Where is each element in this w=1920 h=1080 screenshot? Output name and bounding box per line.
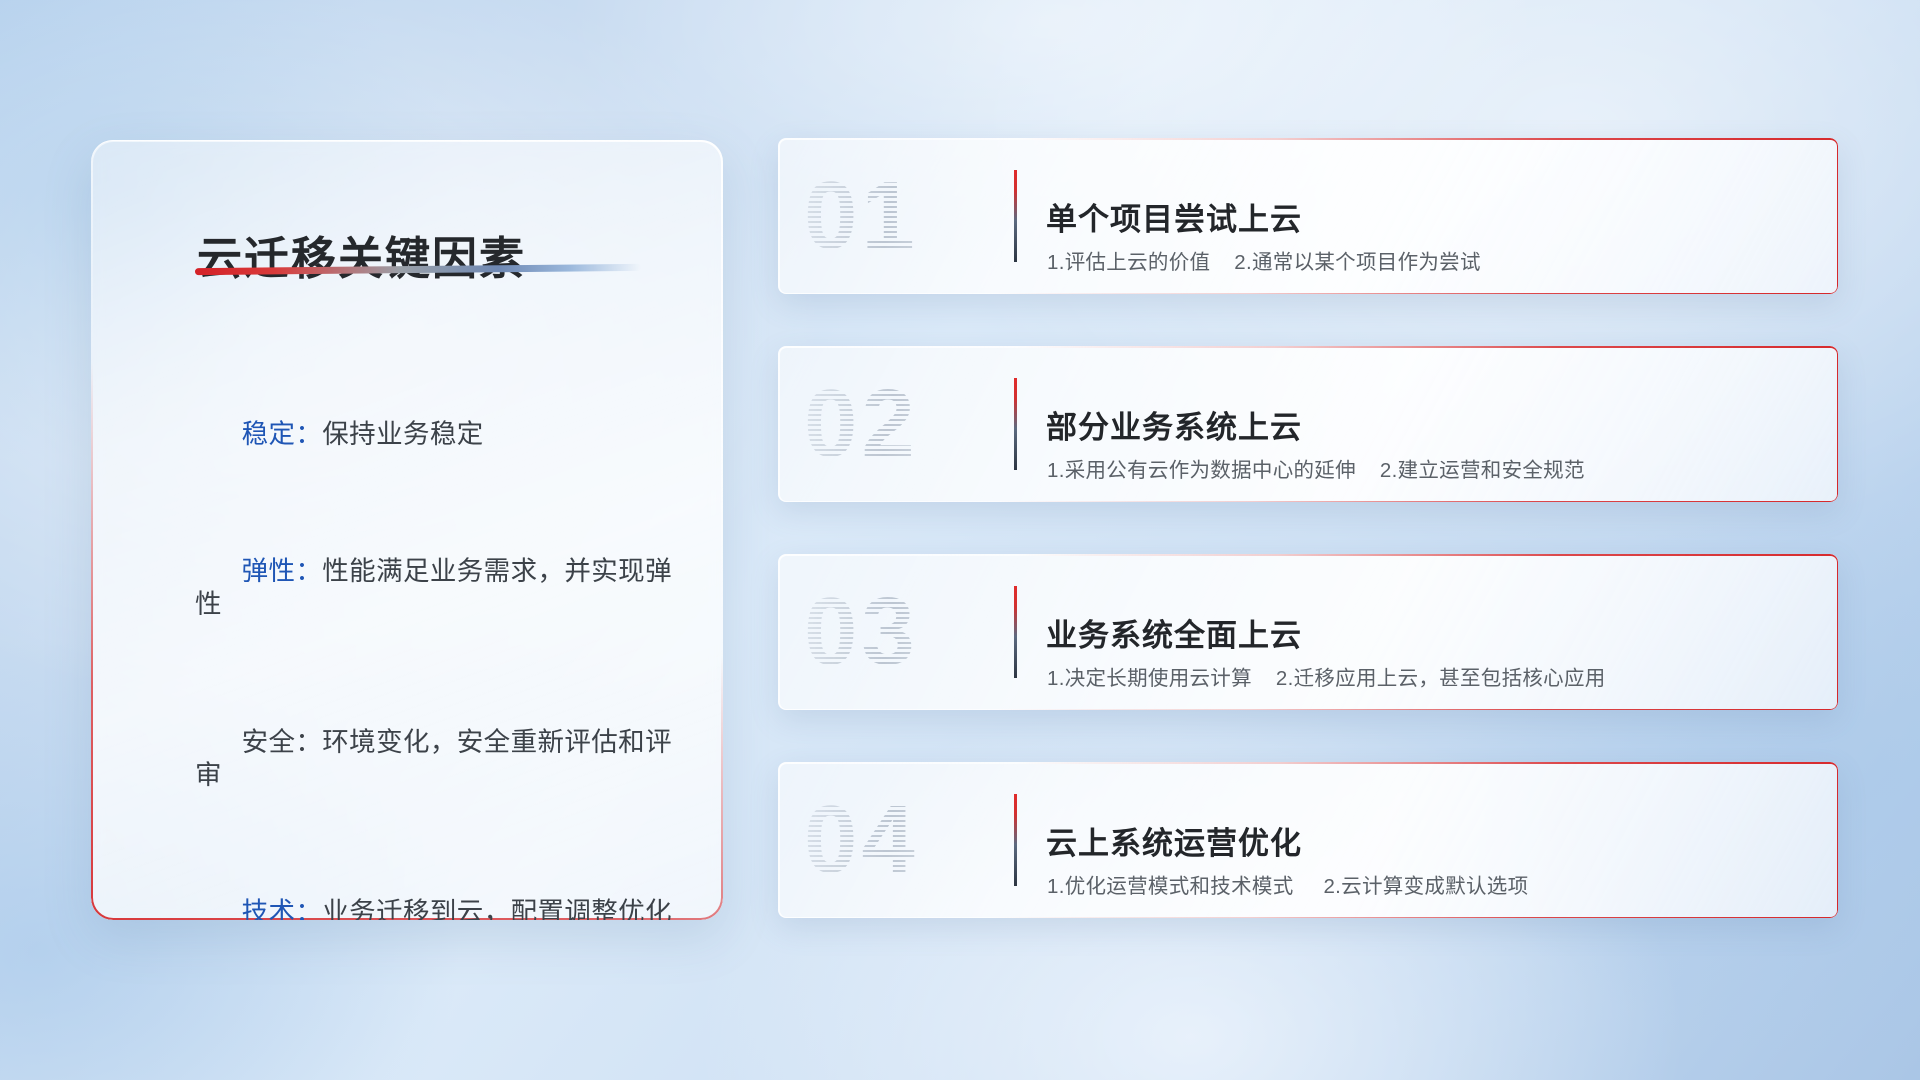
list-item-text: 保持业务稳定 (322, 419, 483, 449)
stage-heading: 业务系统全面上云 (1046, 610, 1302, 655)
stage-description: 1.优化运营模式和技术模式 2.云计算变成默认选项 (1047, 869, 1528, 899)
list-item: 安全：环境变化，安全重新评估和评审 (195, 692, 695, 826)
stage-number-watermark: 02 (804, 364, 994, 484)
stage-card[interactable]: 02 部分业务系统上云 1.采用公有云作为数据中心的延伸 2.建立运营和安全规范 (778, 346, 1838, 502)
list-item-key: 弹性： (242, 556, 323, 586)
stage-heading: 部分业务系统上云 (1046, 402, 1302, 447)
stage-card[interactable]: 04 云上系统运营优化 1.优化运营模式和技术模式 2.云计算变成默认选项 (778, 762, 1838, 918)
list-item: 稳定：保持业务稳定 (195, 385, 695, 485)
stage-number-watermark: 03 (804, 572, 994, 692)
stage-number-watermark: 01 (804, 156, 994, 276)
list-item-key: 稳定： (242, 419, 323, 449)
list-item-text: 业务迁移到云，配置调整优化 (322, 897, 672, 920)
key-factors-list: 稳定：保持业务稳定 弹性：性能满足业务需求，并实现弹性 安全：环境变化，安全重新… (195, 358, 695, 920)
stage-description: 1.决定长期使用云计算 2.迁移应用上云，甚至包括核心应用 (1047, 661, 1606, 691)
stage-heading: 单个项目尝试上云 (1046, 194, 1302, 239)
stage-accent-bar (1014, 794, 1017, 886)
stage-card[interactable]: 03 业务系统全面上云 1.决定长期使用云计算 2.迁移应用上云，甚至包括核心应… (778, 554, 1838, 710)
list-item: 弹性：性能满足业务需求，并实现弹性 (195, 522, 695, 656)
list-item: 技术：业务迁移到云，配置调整优化 (195, 863, 695, 920)
stage-heading: 云上系统运营优化 (1046, 818, 1302, 863)
list-item-key: 安全： (242, 727, 323, 757)
key-factors-panel: 云迁移关键因素 稳定：保持业务稳定 弹性：性能满足业务需求，并实现弹性 安全：环… (91, 140, 723, 920)
stage-accent-bar (1014, 378, 1017, 470)
migration-stages-list: 01 单个项目尝试上云 1.评估上云的价值 2.通常以某个项目作为尝试 02 部… (778, 138, 1838, 970)
stage-accent-bar (1014, 586, 1017, 678)
stage-card[interactable]: 01 单个项目尝试上云 1.评估上云的价值 2.通常以某个项目作为尝试 (778, 138, 1838, 294)
list-item-key: 技术： (242, 897, 323, 920)
stage-description: 1.评估上云的价值 2.通常以某个项目作为尝试 (1047, 245, 1481, 275)
stage-description: 1.采用公有云作为数据中心的延伸 2.建立运营和安全规范 (1047, 453, 1585, 483)
stage-accent-bar (1014, 170, 1017, 262)
page-title: 云迁移关键因素 (197, 222, 526, 287)
stage-number-watermark: 04 (804, 780, 994, 900)
